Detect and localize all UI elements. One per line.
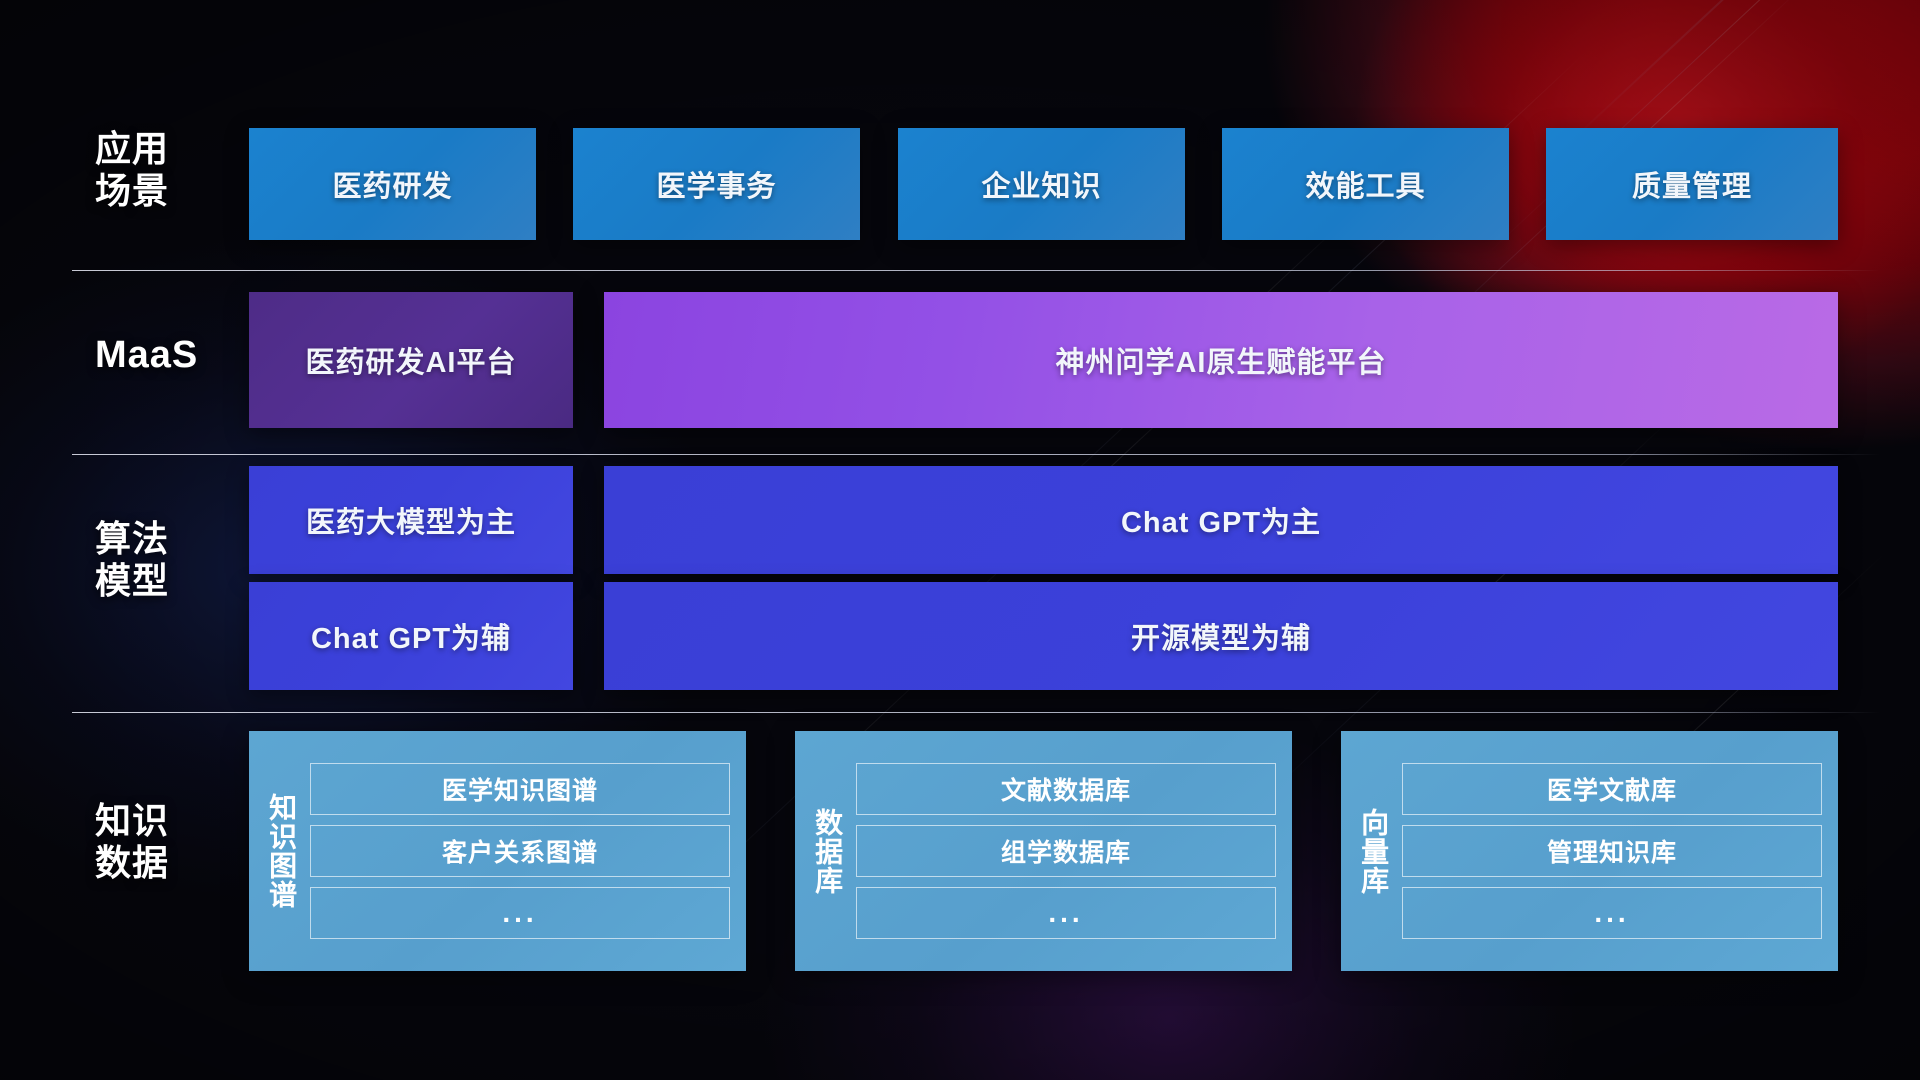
knowledge-graph-item-2[interactable]: ... [310,887,730,939]
model-label-primary-right: Chat GPT为主 [1121,499,1321,541]
model-label-secondary-left: Chat GPT为辅 [311,615,511,657]
model-box-secondary-right[interactable]: 开源模型为辅 [604,582,1838,690]
app-box-label-4: 质量管理 [1632,163,1752,205]
app-box-0[interactable]: 医药研发 [249,128,536,240]
vector-item-label-2: ... [1594,897,1629,929]
model-box-primary-left[interactable]: 医药大模型为主 [249,466,573,574]
vector-item-0[interactable]: 医学文献库 [1402,763,1822,815]
app-box-1[interactable]: 医学事务 [573,128,860,240]
knowledge-panel-database-label: 数据库 [813,771,842,931]
knowledge-panel-graph[interactable]: 知识图谱 医学知识图谱 客户关系图谱 ... [249,731,746,971]
knowledge-panel-vector[interactable]: 向量库 医学文献库 管理知识库 ... [1341,731,1838,971]
database-item-label-1: 组学数据库 [1001,833,1131,869]
knowledge-graph-item-label-1: 客户关系图谱 [442,833,598,869]
maas-enablement-label: 神州问学AI原生赋能平台 [1055,339,1386,381]
database-item-label-0: 文献数据库 [1001,771,1131,807]
tier-label-algorithm: 算法模型 [95,518,275,602]
knowledge-panel-graph-items: 医学知识图谱 客户关系图谱 ... [310,763,730,939]
maas-platform-label: 医药研发AI平台 [305,339,516,381]
vector-item-label-0: 医学文献库 [1547,771,1677,807]
knowledge-graph-item-1[interactable]: 客户关系图谱 [310,825,730,877]
database-item-label-2: ... [1048,897,1083,929]
model-box-secondary-left[interactable]: Chat GPT为辅 [249,582,573,690]
maas-platform-box[interactable]: 医药研发AI平台 [249,292,573,428]
maas-enablement-bar[interactable]: 神州问学AI原生赋能平台 [604,292,1838,428]
knowledge-graph-item-0[interactable]: 医学知识图谱 [310,763,730,815]
model-label-secondary-right: 开源模型为辅 [1131,615,1311,657]
knowledge-graph-item-label-2: ... [502,897,537,929]
model-label-primary-left: 医药大模型为主 [306,499,516,541]
database-item-2[interactable]: ... [856,887,1276,939]
model-box-primary-right[interactable]: Chat GPT为主 [604,466,1838,574]
knowledge-graph-item-label-0: 医学知识图谱 [442,771,598,807]
database-item-0[interactable]: 文献数据库 [856,763,1276,815]
knowledge-panel-vector-label: 向量库 [1359,771,1388,931]
knowledge-panel-graph-label: 知识图谱 [267,745,296,957]
vector-item-1[interactable]: 管理知识库 [1402,825,1822,877]
database-item-1[interactable]: 组学数据库 [856,825,1276,877]
vector-item-label-1: 管理知识库 [1547,833,1677,869]
app-box-2[interactable]: 企业知识 [898,128,1185,240]
knowledge-panel-database-items: 文献数据库 组学数据库 ... [856,763,1276,939]
divider-maas-algorithm [72,454,1880,455]
knowledge-panel-vector-items: 医学文献库 管理知识库 ... [1402,763,1822,939]
app-box-label-3: 效能工具 [1305,163,1425,205]
divider-algorithm-knowledge [72,712,1880,713]
app-box-label-0: 医药研发 [332,163,452,205]
knowledge-panel-database[interactable]: 数据库 文献数据库 组学数据库 ... [795,731,1292,971]
divider-application-maas [72,270,1880,271]
app-box-4[interactable]: 质量管理 [1546,128,1838,240]
app-box-label-1: 医学事务 [656,163,776,205]
tier-label-application: 应用场景 [95,128,275,212]
app-box-label-2: 企业知识 [981,163,1101,205]
tier-label-knowledge: 知识数据 [95,800,275,884]
app-box-3[interactable]: 效能工具 [1222,128,1509,240]
vector-item-2[interactable]: ... [1402,887,1822,939]
